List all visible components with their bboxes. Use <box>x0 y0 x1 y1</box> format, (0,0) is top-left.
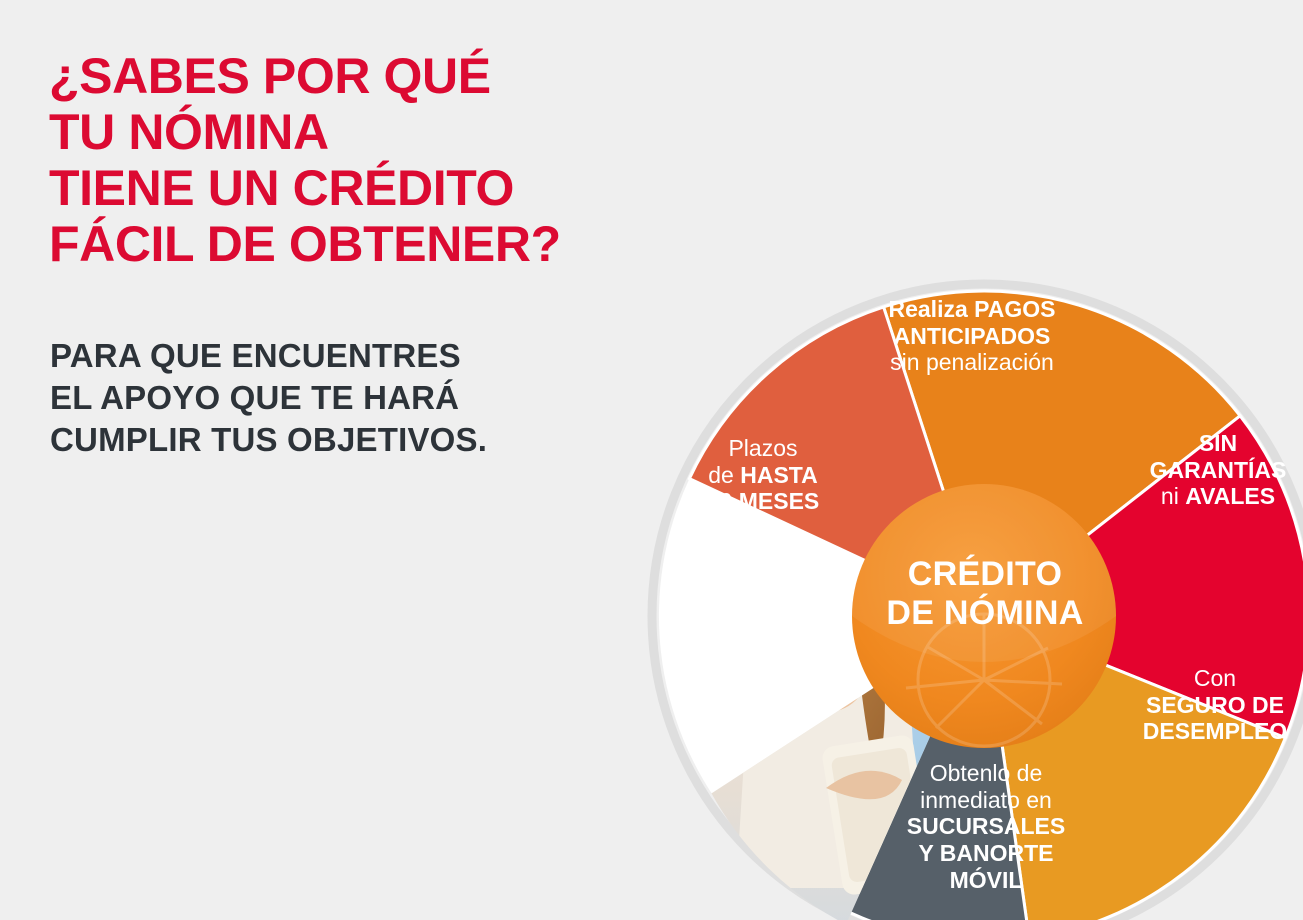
infographic-poster: ¿SABES POR QUÉ TU NÓMINA TIENE UN CRÉDIT… <box>0 0 1303 920</box>
wheel-center-hub[interactable] <box>852 484 1116 748</box>
credit-wheel-diagram <box>596 228 1303 920</box>
page-subheadline: PARA QUE ENCUENTRES EL APOYO QUE TE HARÁ… <box>50 335 670 461</box>
